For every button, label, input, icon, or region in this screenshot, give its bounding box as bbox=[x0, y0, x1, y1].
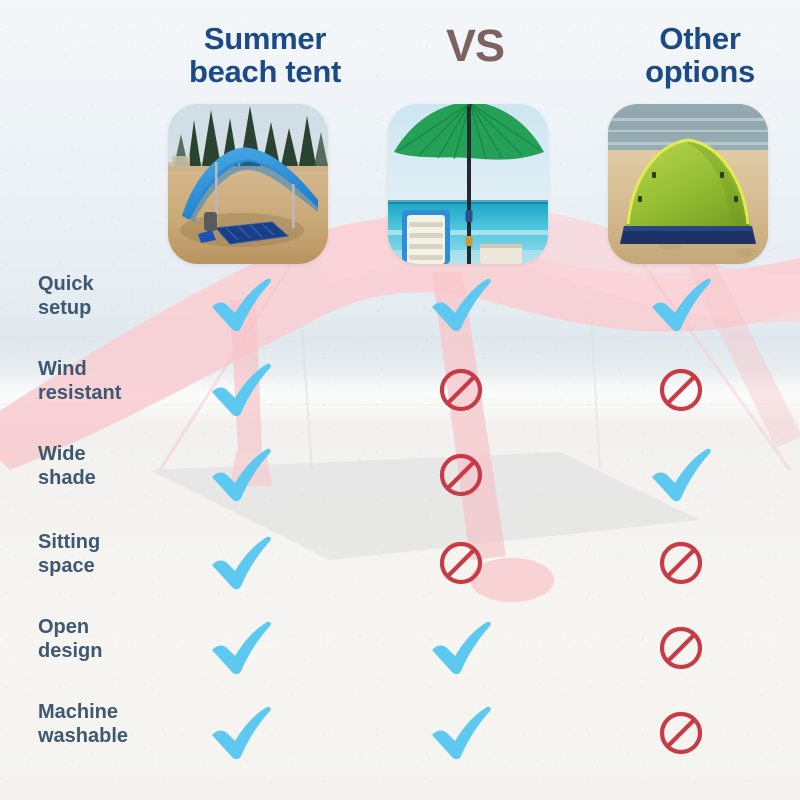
feature-label: Quicksetup bbox=[38, 272, 198, 321]
check-icon bbox=[210, 536, 272, 590]
feature-label: Windresistant bbox=[38, 357, 198, 406]
comparison-cell bbox=[640, 357, 730, 427]
comparison-cell bbox=[200, 272, 290, 342]
comparison-matrix: Quicksetup Windresistant Wideshade Sitti… bbox=[0, 0, 800, 800]
feature-label-line1: Quick bbox=[38, 272, 198, 296]
comparison-cell bbox=[420, 357, 510, 427]
comparison-cell bbox=[200, 615, 290, 685]
check-icon bbox=[430, 278, 492, 332]
comparison-cell bbox=[640, 530, 730, 600]
feature-label-line1: Machine bbox=[38, 700, 198, 724]
check-icon bbox=[210, 363, 272, 417]
prohibition-icon bbox=[658, 625, 704, 671]
check-icon bbox=[210, 448, 272, 502]
feature-label-line2: setup bbox=[38, 296, 198, 320]
comparison-cell bbox=[420, 615, 510, 685]
comparison-cell bbox=[420, 700, 510, 770]
comparison-cell bbox=[200, 700, 290, 770]
check-icon bbox=[430, 706, 492, 760]
comparison-row: Opendesign bbox=[0, 615, 800, 693]
check-icon bbox=[650, 278, 712, 332]
check-icon bbox=[210, 706, 272, 760]
feature-label-line2: space bbox=[38, 554, 198, 578]
prohibition-icon bbox=[438, 540, 484, 586]
check-icon bbox=[210, 621, 272, 675]
comparison-cell bbox=[640, 700, 730, 770]
comparison-infographic: Summer beach tent VS Other options bbox=[0, 0, 800, 800]
prohibition-icon bbox=[658, 367, 704, 413]
comparison-cell bbox=[640, 272, 730, 342]
feature-label: Sittingspace bbox=[38, 530, 198, 579]
prohibition-icon bbox=[658, 710, 704, 756]
comparison-cell bbox=[200, 357, 290, 427]
feature-label-line2: resistant bbox=[38, 381, 198, 405]
prohibition-icon bbox=[658, 540, 704, 586]
feature-label: Wideshade bbox=[38, 442, 198, 491]
feature-label-line2: shade bbox=[38, 466, 198, 490]
feature-label: Machinewashable bbox=[38, 700, 198, 749]
feature-label-line1: Sitting bbox=[38, 530, 198, 554]
feature-label-line1: Wind bbox=[38, 357, 198, 381]
comparison-row: Sittingspace bbox=[0, 530, 800, 608]
check-icon bbox=[210, 278, 272, 332]
check-icon bbox=[430, 621, 492, 675]
feature-label: Opendesign bbox=[38, 615, 198, 664]
feature-label-line2: design bbox=[38, 639, 198, 663]
comparison-row: Windresistant bbox=[0, 357, 800, 435]
comparison-cell bbox=[200, 442, 290, 512]
check-icon bbox=[650, 448, 712, 502]
feature-label-line1: Open bbox=[38, 615, 198, 639]
feature-label-line1: Wide bbox=[38, 442, 198, 466]
comparison-cell bbox=[640, 442, 730, 512]
comparison-cell bbox=[420, 530, 510, 600]
prohibition-icon bbox=[438, 452, 484, 498]
comparison-cell bbox=[200, 530, 290, 600]
comparison-cell bbox=[420, 272, 510, 342]
comparison-row: Machinewashable bbox=[0, 700, 800, 778]
comparison-cell bbox=[640, 615, 730, 685]
comparison-row: Quicksetup bbox=[0, 272, 800, 350]
feature-label-line2: washable bbox=[38, 724, 198, 748]
prohibition-icon bbox=[438, 367, 484, 413]
comparison-cell bbox=[420, 442, 510, 512]
comparison-row: Wideshade bbox=[0, 442, 800, 520]
